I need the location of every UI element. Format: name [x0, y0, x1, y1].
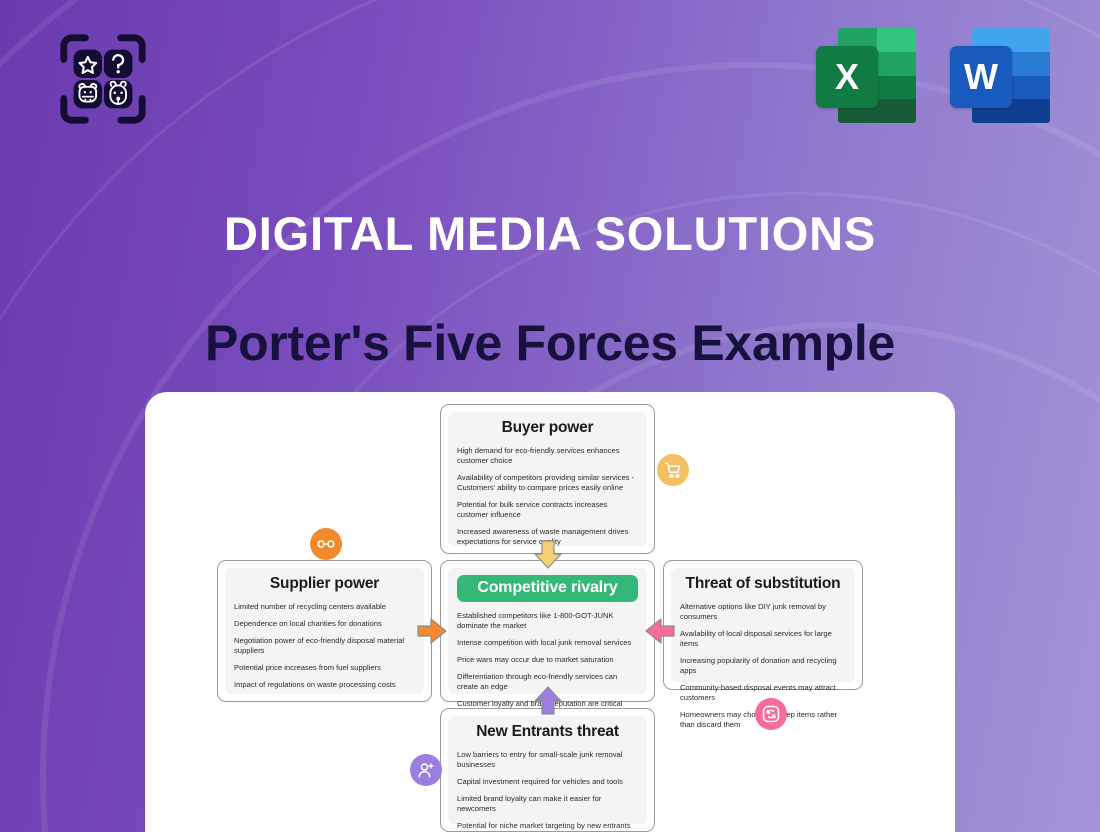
list-item: Low barriers to entry for small-scale ju… — [457, 750, 638, 770]
force-box-supplier-bullets: Limited number of recycling centers avai… — [234, 602, 415, 690]
list-item: Price wars may occur due to market satur… — [457, 655, 638, 665]
list-item: Negotiation power of eco-friendly dispos… — [234, 636, 415, 656]
shopping-cart-icon — [657, 454, 689, 486]
list-item: Potential price increases from fuel supp… — [234, 663, 415, 673]
export-icons: X W — [816, 28, 1050, 123]
recycle-refresh-icon — [755, 698, 787, 730]
add-person-icon — [410, 754, 442, 786]
list-item: High demand for eco-friendly services en… — [457, 446, 638, 466]
arrow-buyer-to-rivalry — [531, 540, 565, 570]
list-item: Increasing popularity of donation and re… — [680, 656, 846, 676]
list-item: Availability of local disposal services … — [680, 629, 846, 649]
force-box-supplier[interactable]: Supplier power Limited number of recycli… — [217, 560, 432, 702]
excel-icon-badge: X — [816, 46, 878, 108]
list-item: Limited brand loyalty can make it easier… — [457, 794, 638, 814]
slide-card: Buyer power High demand for eco-friendly… — [145, 392, 955, 832]
force-box-buyer-inner: Buyer power High demand for eco-friendly… — [448, 412, 647, 546]
force-box-supplier-inner: Supplier power Limited number of recycli… — [225, 568, 424, 694]
force-box-buyer-bullets: High demand for eco-friendly services en… — [457, 446, 638, 547]
excel-icon-letter: X — [835, 59, 859, 95]
porters-five-forces-diagram: Buyer power High demand for eco-friendly… — [145, 392, 955, 832]
dog-face-icon — [104, 80, 132, 108]
cow-face-icon — [74, 80, 102, 108]
word-icon-letter: W — [964, 59, 998, 95]
arrow-entrants-to-rivalry — [531, 686, 565, 716]
brand-logo[interactable] — [54, 30, 152, 128]
list-item: Alternative options like DIY junk remova… — [680, 602, 846, 622]
list-item: Impact of regulations on waste processin… — [234, 680, 415, 690]
star-icon — [74, 50, 102, 78]
force-box-rivalry-inner: Competitive rivalry Established competit… — [448, 568, 647, 694]
word-icon-badge: W — [950, 46, 1012, 108]
list-item: Intense competition with local junk remo… — [457, 638, 638, 648]
force-box-rivalry[interactable]: Competitive rivalry Established competit… — [440, 560, 655, 702]
arrow-supplier-to-rivalry — [417, 615, 449, 647]
arrow-substitution-to-rivalry — [643, 615, 675, 647]
list-item: Dependence on local charities for donati… — [234, 619, 415, 629]
list-item: Potential for bulk service contracts inc… — [457, 500, 638, 520]
excel-icon[interactable]: X — [816, 28, 916, 123]
force-box-entrants-inner: New Entrants threat Low barriers to entr… — [448, 716, 647, 824]
list-item: Capital investment required for vehicles… — [457, 777, 638, 787]
force-box-substitution-inner: Threat of substitution Alternative optio… — [671, 568, 855, 682]
force-box-supplier-title: Supplier power — [234, 575, 415, 593]
force-box-entrants[interactable]: New Entrants threat Low barriers to entr… — [440, 708, 655, 832]
link-chain-icon — [310, 528, 342, 560]
force-box-substitution-title: Threat of substitution — [680, 575, 846, 593]
force-box-substitution[interactable]: Threat of substitution Alternative optio… — [663, 560, 863, 690]
force-box-entrants-title: New Entrants threat — [457, 723, 638, 741]
force-box-buyer-title: Buyer power — [457, 419, 638, 437]
brand-title: DIGITAL MEDIA SOLUTIONS — [0, 206, 1100, 261]
force-box-rivalry-title: Competitive rivalry — [457, 575, 638, 602]
page-title: Porter's Five Forces Example — [0, 314, 1100, 372]
list-item: Availability of competitors providing si… — [457, 473, 638, 493]
word-icon[interactable]: W — [950, 28, 1050, 123]
force-box-buyer[interactable]: Buyer power High demand for eco-friendly… — [440, 404, 655, 554]
list-item: Established competitors like 1-800-GOT-J… — [457, 611, 638, 631]
force-box-entrants-bullets: Low barriers to entry for small-scale ju… — [457, 750, 638, 832]
list-item: Limited number of recycling centers avai… — [234, 602, 415, 612]
list-item: Potential for niche market targeting by … — [457, 821, 638, 831]
question-mark-icon — [104, 50, 132, 78]
